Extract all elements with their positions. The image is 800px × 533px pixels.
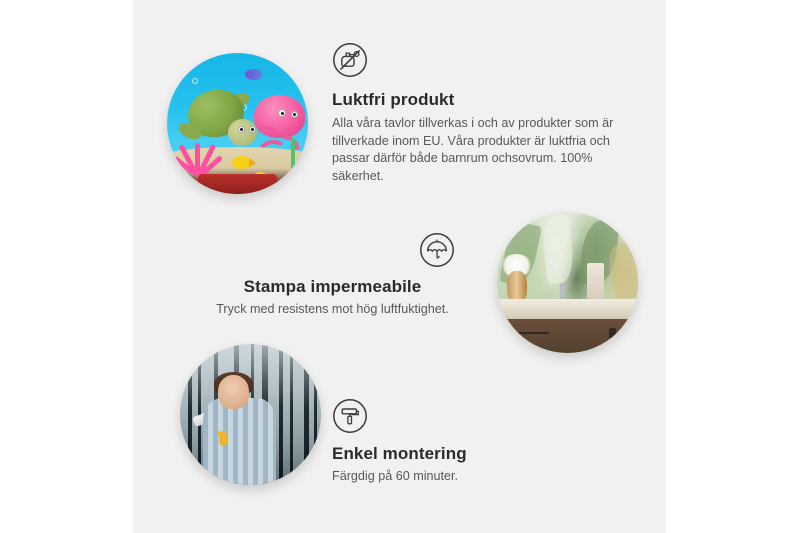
feature-body: Tryck med resistens mot hög luftfuktighe… — [200, 301, 465, 319]
feature-title: Luktfri produkt — [332, 90, 614, 110]
feature-title: Stampa impermeabile — [200, 277, 465, 297]
no-spray-bottle-icon — [332, 42, 614, 78]
feature-title: Enkel montering — [332, 444, 602, 464]
paint-roller-icon — [332, 398, 602, 434]
photo-painter-mural — [180, 344, 321, 485]
feature-body: Färgdig på 60 minuter. — [332, 468, 602, 486]
feature-odour-free: Luktfri produkt Alla våra tavlor tillver… — [332, 42, 614, 185]
photo-bathroom-mural — [497, 212, 638, 353]
photo-ocean-mural — [167, 53, 308, 194]
feature-waterproof-print: Stampa impermeabile Tryck med resistens … — [200, 232, 465, 319]
coral-decor — [181, 143, 216, 177]
umbrella-icon — [419, 232, 465, 268]
feature-body: Alla våra tavlor tillverkas i och av pro… — [332, 115, 614, 185]
promo-banner: Luktfri produkt Alla våra tavlor tillver… — [0, 0, 800, 533]
feature-easy-mounting: Enkel montering Färgdig på 60 minuter. — [332, 398, 602, 486]
